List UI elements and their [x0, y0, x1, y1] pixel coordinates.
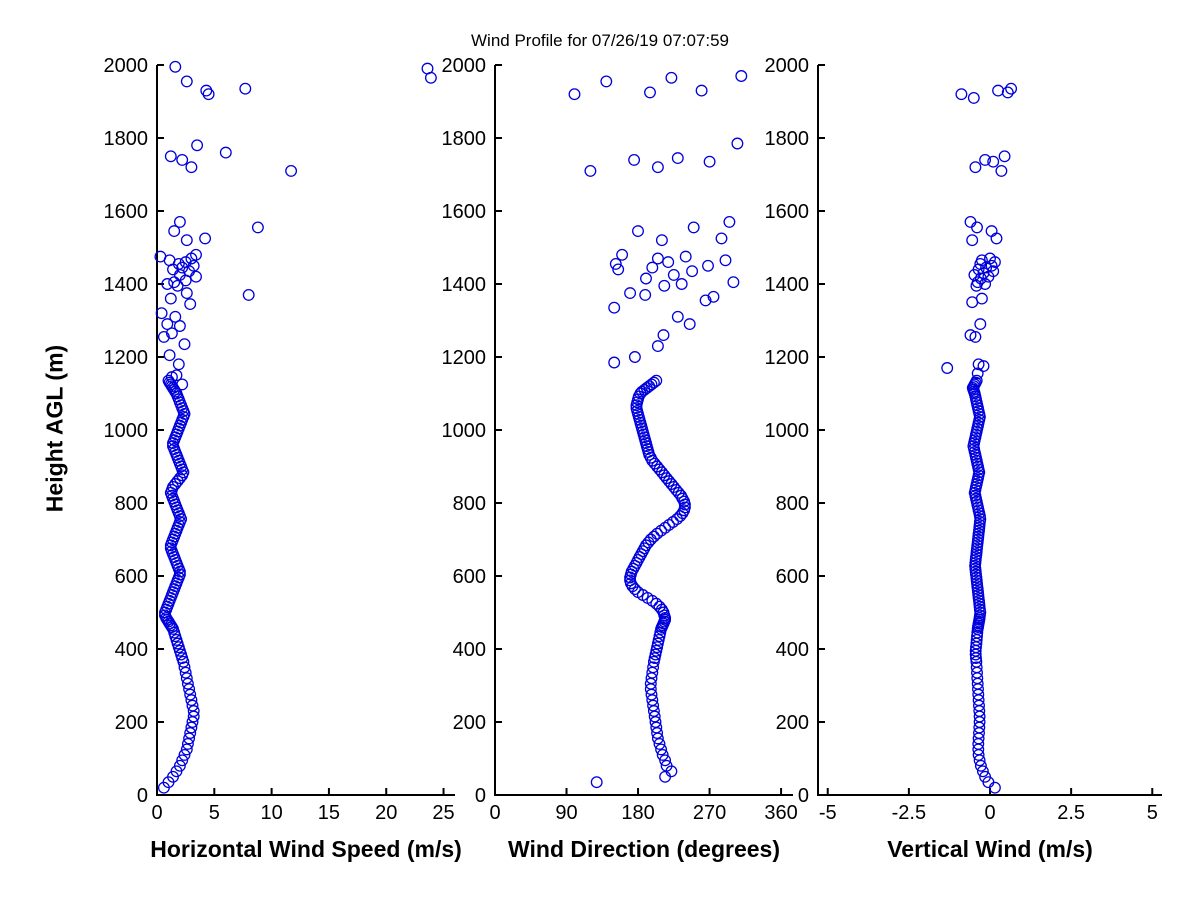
x-tick-label: -2.5	[892, 802, 926, 824]
data-point	[996, 166, 1007, 177]
y-tick-label: 800	[776, 493, 809, 515]
y-tick-label: 1600	[765, 201, 810, 223]
series-vertical-wind	[942, 83, 1016, 793]
data-point	[970, 162, 981, 173]
data-point	[977, 293, 988, 304]
axis-spine	[818, 65, 1162, 795]
data-point	[991, 233, 1002, 244]
data-point	[965, 217, 976, 228]
y-tick-label: 600	[776, 566, 809, 588]
y-tick-label: 1200	[765, 347, 810, 369]
y-tick-label: 0	[798, 785, 809, 807]
y-tick-label: 200	[776, 712, 809, 734]
y-tick-label: 1000	[765, 420, 810, 442]
x-tick-label: 5	[1147, 802, 1158, 824]
x-tick-label: 2.5	[1057, 802, 1085, 824]
wind-profile-figure: Wind Profile for 07/26/19 07:07:59 02004…	[0, 0, 1200, 900]
axes-vertical-wind: 0200400600800100012001400160018002000-5-…	[0, 0, 1200, 900]
data-point	[999, 151, 1010, 162]
x-tick-label: 0	[984, 802, 995, 824]
y-tick-label: 1800	[765, 128, 810, 150]
y-tick-label: 1400	[765, 274, 810, 296]
data-point	[972, 222, 983, 233]
y-tick-label: 400	[776, 639, 809, 661]
data-point	[975, 319, 986, 330]
data-point	[967, 235, 978, 246]
y-axis-label: Height AGL (m)	[42, 319, 69, 539]
x-tick-label: -5	[819, 802, 837, 824]
data-point	[942, 363, 953, 374]
data-point	[956, 89, 967, 100]
y-tick-label: 2000	[765, 55, 810, 77]
data-point	[969, 93, 980, 104]
panel-vertical-wind: 0200400600800100012001400160018002000-5-…	[0, 0, 1200, 900]
data-point	[993, 85, 1004, 96]
x-axis-label-panel-3: Vertical Wind (m/s)	[758, 836, 1200, 863]
data-point	[986, 226, 997, 237]
data-point	[967, 297, 978, 308]
data-point	[990, 782, 1001, 793]
